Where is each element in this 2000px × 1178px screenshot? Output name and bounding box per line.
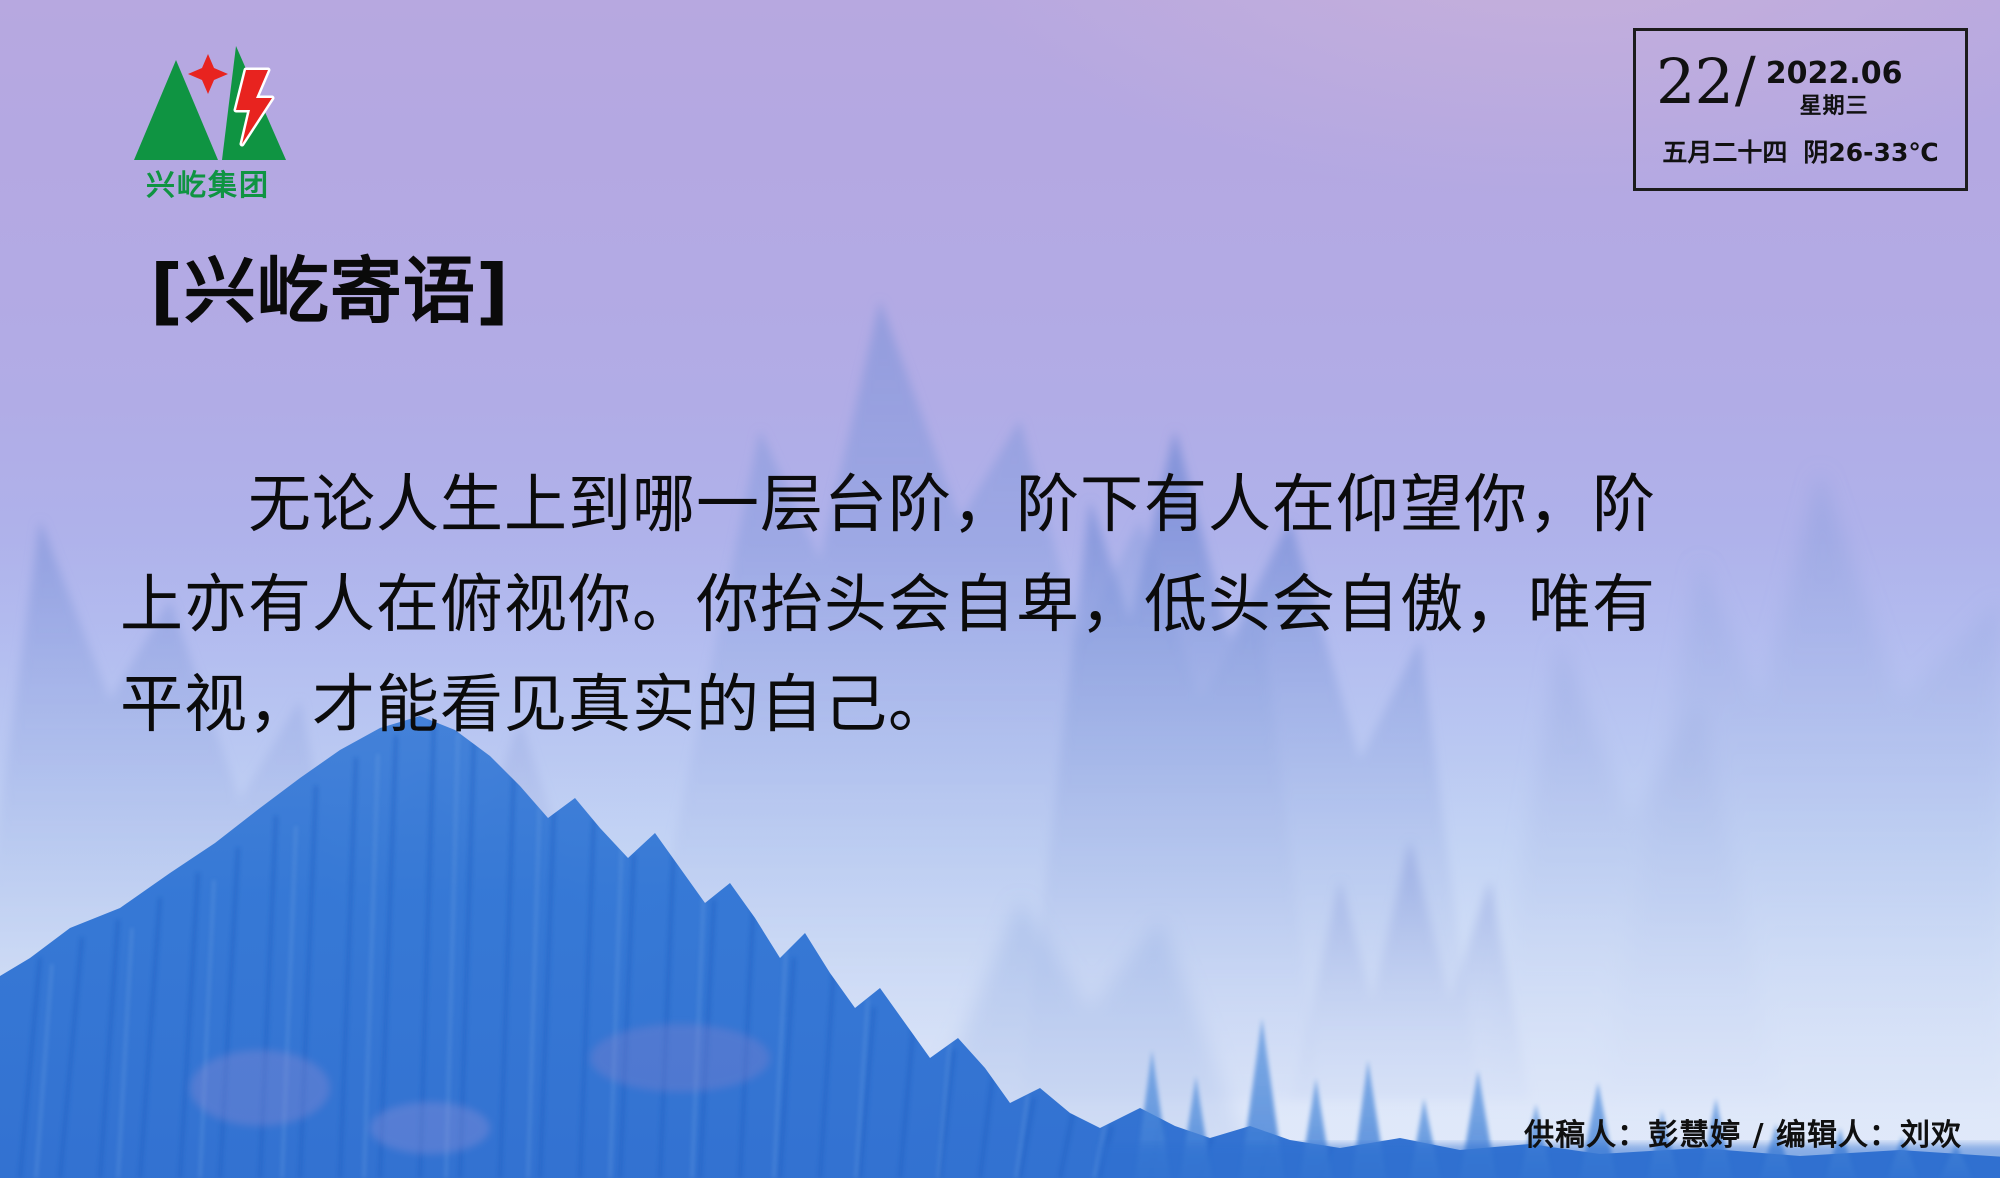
date-weather-box: 22 / 2022.06 星期三 五月二十四 阴26-33℃: [1633, 28, 1968, 191]
company-logo: 兴屹集团: [118, 42, 298, 202]
day-number: 22: [1656, 53, 1733, 111]
mountain-star-bolt-icon: [118, 42, 298, 162]
page-title: [兴屹寄语]: [150, 232, 510, 337]
weather-info: 阴26-33℃: [1803, 133, 1938, 169]
footer-credit: 供稿人：彭慧婷 / 编辑人：刘欢: [1524, 1110, 1962, 1154]
quote-line: 平视，才能看见真实的自己。: [120, 655, 1890, 755]
date-box-bottom-row: 五月二十四 阴26-33℃: [1636, 133, 1965, 169]
year-month-weekday-group: 2022.06 星期三: [1766, 53, 1903, 121]
date-slash: /: [1735, 51, 1756, 109]
lunar-date: 五月二十四: [1662, 133, 1787, 169]
logo-wordmark: 兴屹集团: [118, 162, 298, 204]
quote-body: 无论人生上到哪一层台阶，阶下有人在仰望你，阶 上亦有人在俯视你。你抬头会自卑，低…: [120, 455, 1890, 755]
weekday: 星期三: [1766, 93, 1903, 121]
poster-canvas: 兴屹集团 22 / 2022.06 星期三 五月二十四 阴26-33℃ [兴屹寄…: [0, 0, 2000, 1178]
quote-line: 无论人生上到哪一层台阶，阶下有人在仰望你，阶: [120, 455, 1890, 555]
quote-line: 上亦有人在俯视你。你抬头会自卑，低头会自傲，唯有: [120, 555, 1890, 655]
year-month: 2022.06: [1766, 56, 1903, 91]
date-box-top-row: 22 / 2022.06 星期三: [1636, 31, 1965, 121]
